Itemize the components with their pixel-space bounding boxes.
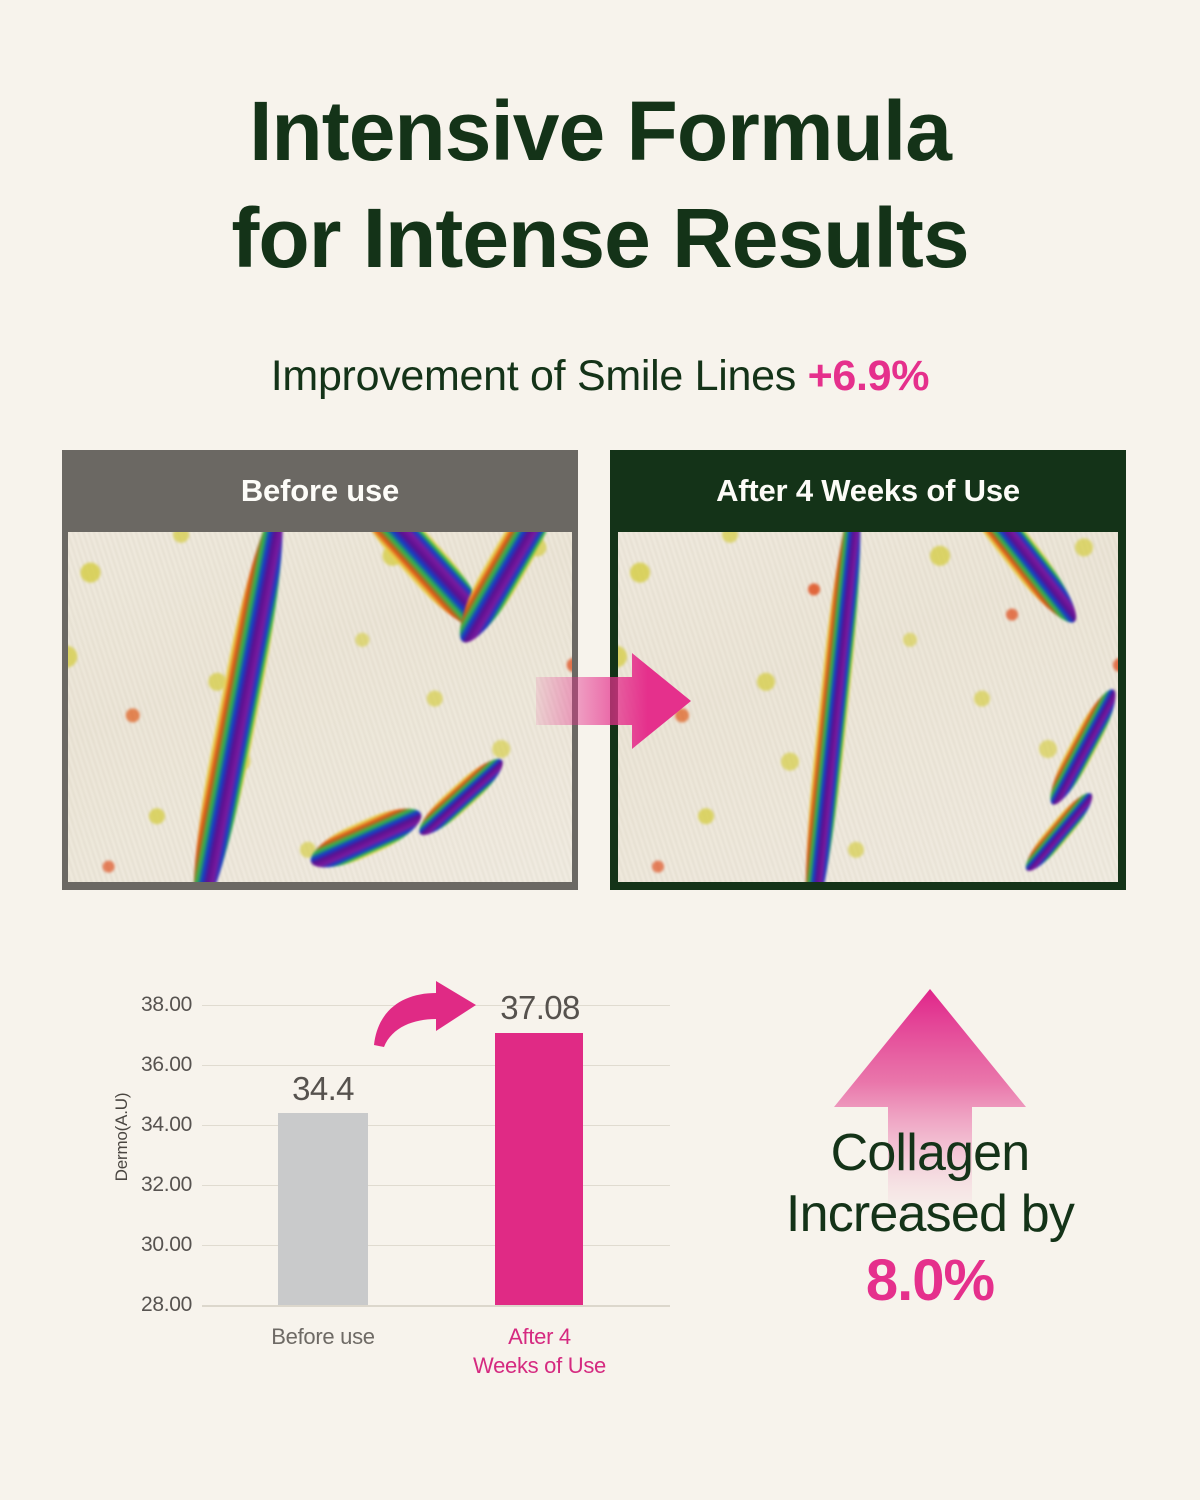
before-after-comparison: Before use After 4 Weeks of Use [62, 450, 1138, 890]
y-tick-label: 36.00 [110, 1053, 192, 1077]
arrow-right-icon [536, 653, 691, 749]
subtitle-percent: +6.9% [808, 352, 930, 400]
bar-before-use [278, 1113, 368, 1305]
gridline [202, 1245, 670, 1246]
bar-value-before: 34.4 [268, 1070, 378, 1108]
panel-after-title: After 4 Weeks of Use [610, 450, 1126, 532]
y-tick-label: 28.00 [110, 1293, 192, 1317]
gridline [202, 1065, 670, 1066]
bar-after-4-weeks [495, 1033, 583, 1305]
headline-line-2: for Intense Results [0, 185, 1200, 292]
x-label-before-line1: Before use [248, 1323, 398, 1352]
collagen-percent: 8.0% [690, 1247, 1170, 1314]
subtitle-text: Improvement of Smile Lines [271, 352, 808, 400]
panel-before: Before use [62, 450, 578, 890]
headline-line-1: Intensive Formula [0, 78, 1200, 185]
y-tick-label: 34.00 [110, 1113, 192, 1137]
curved-arrow-icon [370, 979, 480, 1049]
x-label-after: After 4 Weeks of Use [462, 1323, 617, 1380]
dermo-bar-chart: Dermo(A.U) 38.00 36.00 34.00 32.00 30.00… [70, 975, 690, 1395]
x-label-after-line1: After 4 [462, 1323, 617, 1352]
y-tick-label: 38.00 [110, 993, 192, 1017]
infographic-page: Intensive Formula for Intense Results Im… [0, 0, 1200, 1500]
skin-image-after [618, 532, 1118, 882]
y-tick-label: 32.00 [110, 1173, 192, 1197]
collagen-callout: Collagen Increased by 8.0% [690, 985, 1170, 1405]
x-label-before: Before use [248, 1323, 398, 1352]
page-title: Intensive Formula for Intense Results [0, 78, 1200, 291]
subtitle: Improvement of Smile Lines +6.9% [0, 352, 1200, 401]
gridline [202, 1125, 670, 1126]
gridline [202, 1185, 670, 1186]
skin-image-before [68, 532, 572, 882]
axis-baseline [202, 1305, 670, 1307]
y-tick-label: 30.00 [110, 1233, 192, 1257]
collagen-text: Collagen Increased by [690, 1123, 1170, 1246]
bar-value-after: 37.08 [475, 989, 605, 1027]
panel-before-title: Before use [62, 450, 578, 532]
collagen-line-2: Increased by [690, 1184, 1170, 1245]
x-label-after-line2: Weeks of Use [462, 1352, 617, 1381]
collagen-line-1: Collagen [690, 1123, 1170, 1184]
